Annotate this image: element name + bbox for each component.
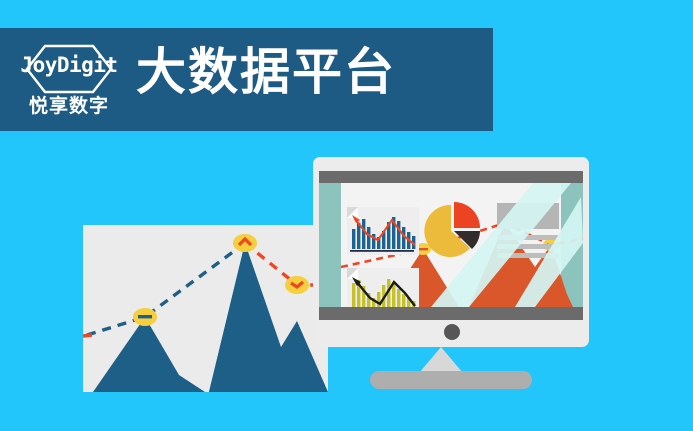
content-text-line (497, 235, 559, 240)
chart-marker-2 (233, 234, 257, 252)
chart-marker-1 (133, 308, 157, 326)
logo-hexagon-icon: JoyDigit (15, 43, 123, 95)
trend-line-blue (87, 243, 245, 335)
content-text-line (497, 253, 559, 258)
brand-logo: JoyDigit 悦享数字 (14, 34, 124, 124)
widget-pie-chart[interactable] (423, 201, 483, 266)
pie-slice-red (454, 202, 480, 228)
chart-marker-3 (285, 276, 309, 294)
monitor-stand-base (370, 371, 532, 389)
content-text-line (497, 244, 559, 249)
mountain-range-left (83, 243, 328, 392)
monitor-bezel-top (319, 171, 583, 183)
monitor-bezel-bottom (319, 307, 583, 320)
widget-bar-chart-card-blue[interactable] (347, 207, 419, 255)
widget-text-block (497, 203, 559, 258)
page-title: 大数据平台 (136, 44, 396, 102)
logo-subtitle: 悦享数字 (29, 97, 109, 116)
monitor-power-button[interactable] (444, 324, 460, 340)
left-chart-panel (83, 225, 328, 392)
content-image-placeholder (497, 203, 559, 229)
trend-line-red-stub (83, 335, 92, 336)
monitor (313, 157, 589, 387)
monitor-screen (319, 183, 583, 307)
logo-wordmark: JoyDigit (15, 55, 123, 76)
monitor-stand-neck (419, 347, 463, 373)
widget-bar-chart-card-olive[interactable] (347, 268, 419, 307)
poster-canvas: JoyDigit 悦享数字 大数据平台 (0, 0, 693, 431)
